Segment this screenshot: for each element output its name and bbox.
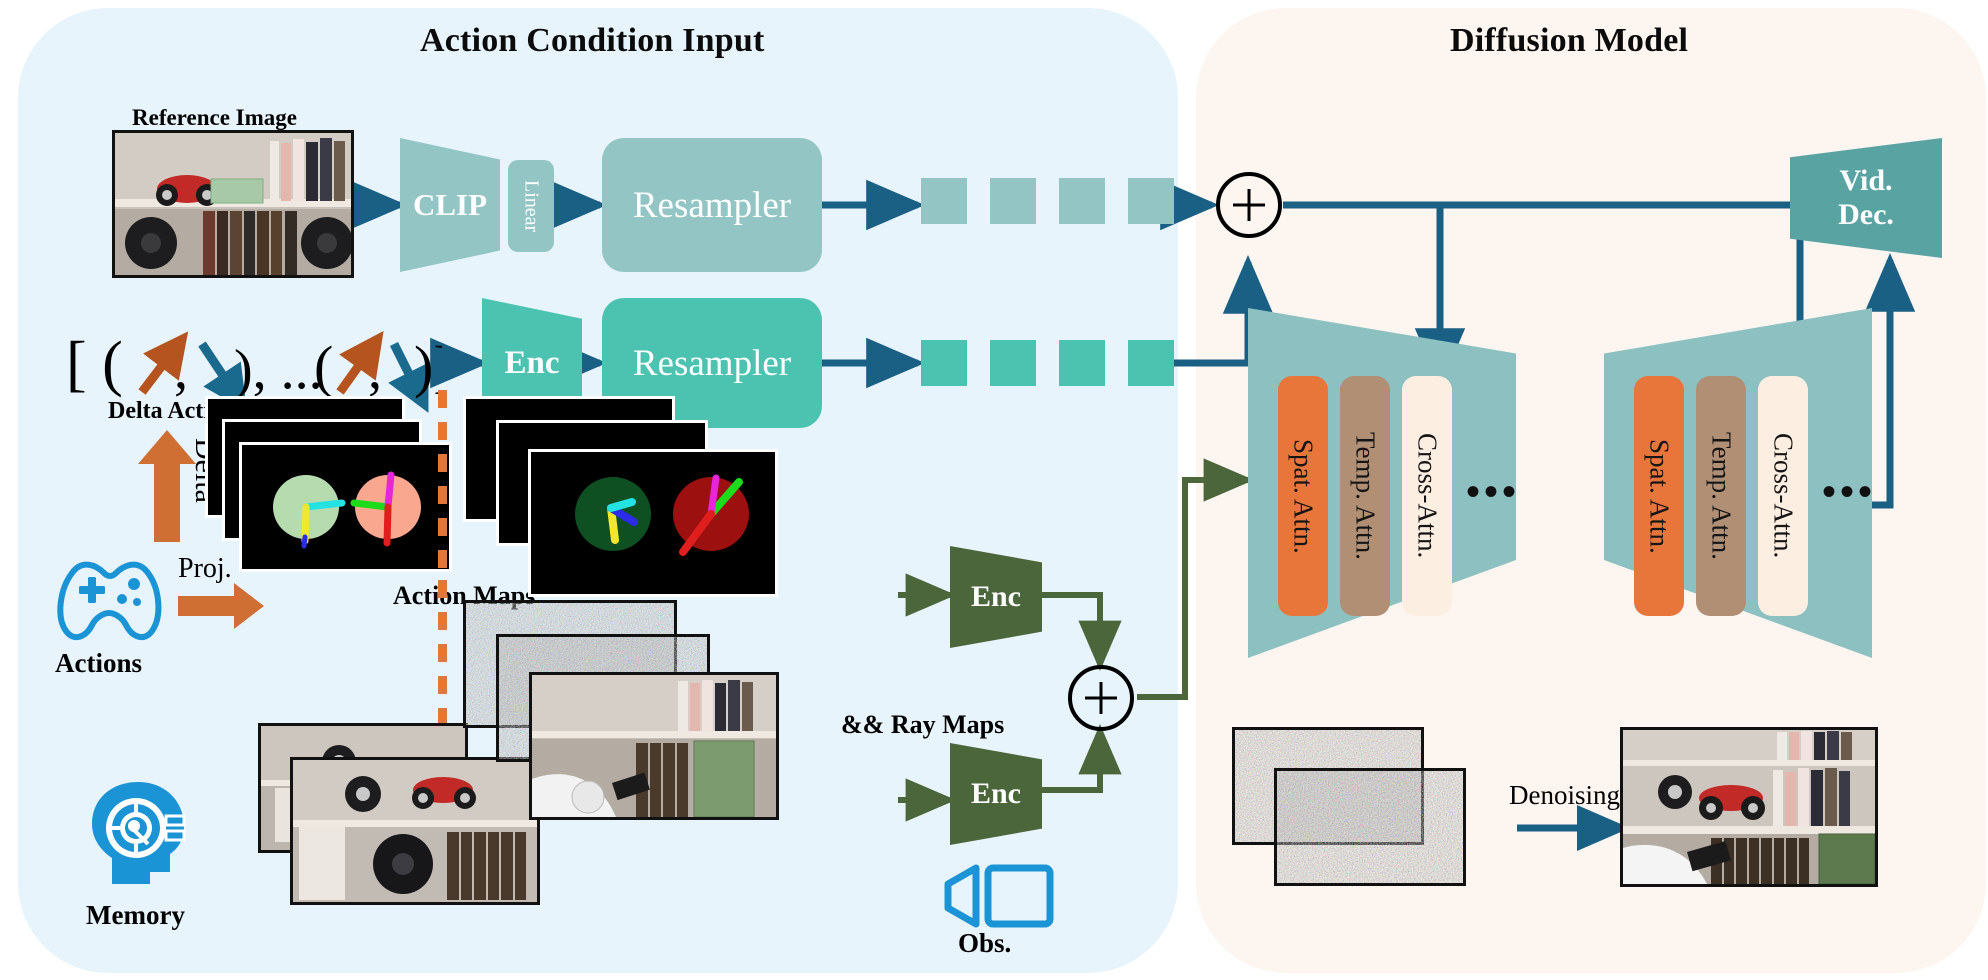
clip-encoder-block[interactable]: CLIP xyxy=(400,138,500,272)
gamepad-icon xyxy=(52,555,167,643)
raymap-obs-latent-sum xyxy=(1068,665,1134,731)
unet-down-ellipsis: ••• xyxy=(1466,468,1520,515)
attn-cross-up[interactable]: Cross-Attn. xyxy=(1758,376,1808,616)
image-token-3 xyxy=(1059,178,1105,224)
memory-brain-icon xyxy=(88,778,188,888)
linear-label: Linear xyxy=(520,180,543,232)
action-token-2 xyxy=(990,340,1036,386)
panel-title-diffusion-model: Diffusion Model xyxy=(1450,22,1688,60)
actions-label: Actions xyxy=(55,648,142,679)
svg-text:,: , xyxy=(368,339,382,401)
attn-cross-down-label: Cross-Attn. xyxy=(1412,433,1443,558)
ray-map-frame-front xyxy=(528,449,778,597)
image-token-4 xyxy=(1128,178,1174,224)
obs-frame-front xyxy=(529,672,779,820)
denoising-label: Denoising xyxy=(1509,780,1620,811)
linear-projection-block[interactable]: Linear xyxy=(508,160,554,252)
video-camera-icon xyxy=(942,862,1060,928)
diagram-canvas: Action Condition Input Diffusion Model xyxy=(0,0,1988,980)
attn-spatial-down-label: Spat. Attn. xyxy=(1288,439,1319,554)
svg-text:(: ( xyxy=(314,334,333,399)
resampler-action-label: Resampler xyxy=(633,342,791,385)
ray-maps-label: && Ray Maps xyxy=(841,710,1004,740)
svg-text:[ (: [ ( xyxy=(66,330,123,398)
reference-image-label: Reference Image xyxy=(132,105,297,131)
svg-text:,: , xyxy=(174,339,188,401)
svg-text:), ...: ), ... xyxy=(234,339,323,401)
attn-cross-down[interactable]: Cross-Attn. xyxy=(1402,376,1452,616)
vid-dec-line2: Dec. xyxy=(1838,198,1894,233)
denoised-output-frame xyxy=(1620,727,1878,887)
unet-down-block: Spat. Attn. Temp. Attn. Cross-Attn. ••• xyxy=(1248,308,1516,658)
resampler-image-label: Resampler xyxy=(633,184,791,227)
obs-label: Obs. xyxy=(958,928,1011,959)
panel-title-action-condition-input: Action Condition Input xyxy=(420,22,765,60)
denoising-input-frame-front xyxy=(1274,768,1466,886)
resampler-image-block[interactable]: Resampler xyxy=(602,138,822,272)
attn-spatial-down[interactable]: Spat. Attn. xyxy=(1278,376,1328,616)
attn-cross-up-label: Cross-Attn. xyxy=(1768,433,1799,558)
attn-temporal-up-label: Temp. Attn. xyxy=(1706,432,1737,560)
memory-label: Memory xyxy=(86,900,185,931)
action-map-frame-front xyxy=(239,442,452,572)
unet-up-block: Spat. Attn. Temp. Attn. Cross-Attn. ••• xyxy=(1604,308,1872,658)
video-decoder-block[interactable]: Vid. Dec. xyxy=(1790,138,1942,258)
action-token-4 xyxy=(1128,340,1174,386)
image-token-1 xyxy=(921,178,967,224)
attn-spatial-up[interactable]: Spat. Attn. xyxy=(1634,376,1684,616)
memory-frame-front xyxy=(290,757,540,905)
image-token-2 xyxy=(990,178,1036,224)
obs-encoder-block[interactable]: Enc xyxy=(950,743,1042,845)
action-token-1 xyxy=(921,340,967,386)
action-token-3 xyxy=(1059,340,1105,386)
attn-temporal-up[interactable]: Temp. Attn. xyxy=(1696,376,1746,616)
attn-temporal-down-label: Temp. Attn. xyxy=(1350,432,1381,560)
raymap-encoder-block[interactable]: Enc xyxy=(950,546,1042,648)
unet-up-ellipsis: ••• xyxy=(1822,468,1876,515)
proj-label: Proj. xyxy=(178,553,232,585)
clip-label: CLIP xyxy=(413,187,487,223)
vid-dec-line1: Vid. xyxy=(1839,164,1892,199)
proj-arrow xyxy=(178,583,264,629)
reference-image-thumbnail xyxy=(112,130,354,278)
attn-temporal-down[interactable]: Temp. Attn. xyxy=(1340,376,1390,616)
obs-enc-label: Enc xyxy=(971,777,1021,811)
separator-dash-top xyxy=(438,390,447,585)
image-action-token-sum xyxy=(1216,172,1282,238)
raymap-enc-label: Enc xyxy=(971,580,1021,614)
action-enc-label: Enc xyxy=(504,345,559,382)
attn-spatial-up-label: Spat. Attn. xyxy=(1644,439,1675,554)
